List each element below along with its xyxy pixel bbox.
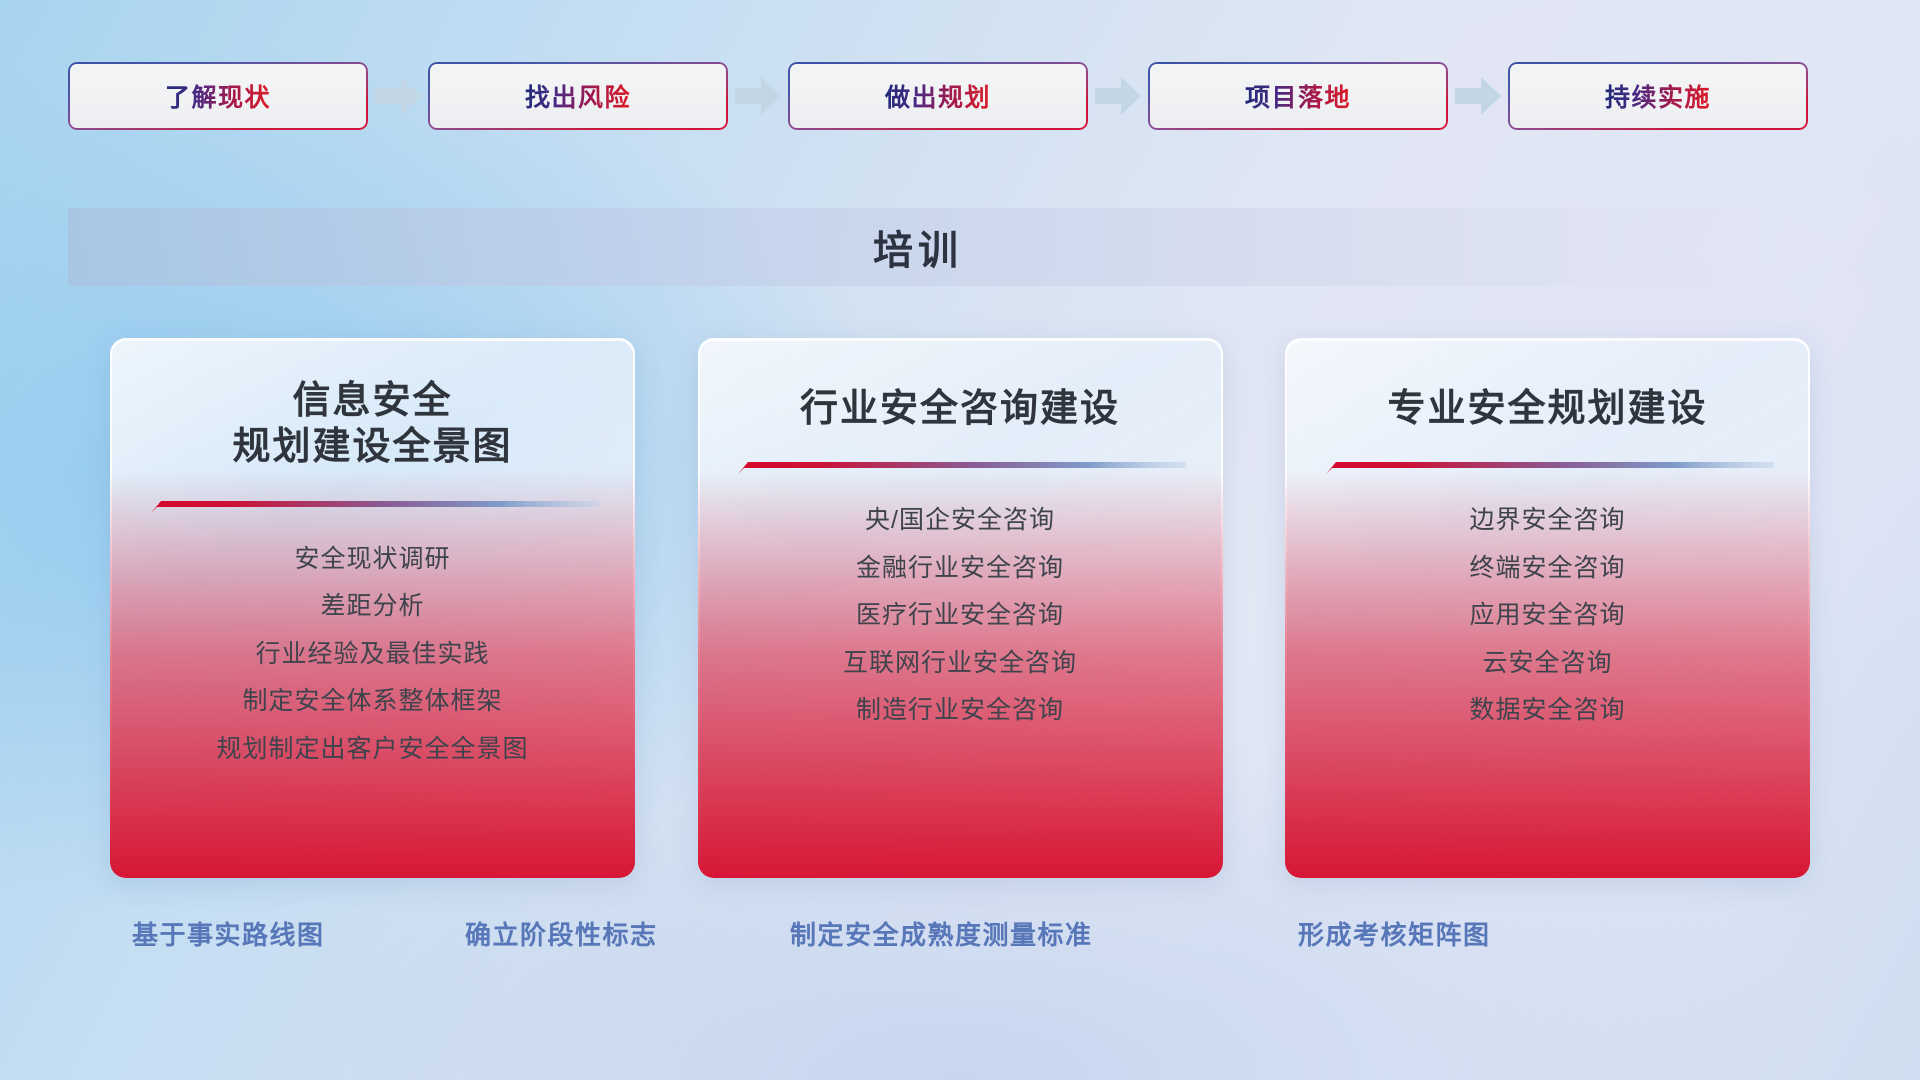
card-item-list: 央/国企安全咨询 金融行业安全咨询 医疗行业安全咨询 互联网行业安全咨询 制造行… xyxy=(700,500,1221,731)
card-title-line: 专业安全规划建设 xyxy=(1387,386,1707,432)
card-title: 信息安全 规划建设全景图 xyxy=(232,378,512,471)
card-item-list: 边界安全咨询 终端安全咨询 应用安全咨询 云安全咨询 数据安全咨询 xyxy=(1287,500,1808,731)
card-title-line: 行业安全咨询建设 xyxy=(800,386,1120,432)
card-info-security-blueprint[interactable]: 信息安全 规划建设全景图 xyxy=(110,338,635,878)
step-label-5: 持续实施 xyxy=(1605,78,1711,114)
list-item: 云安全咨询 xyxy=(1482,643,1612,684)
card-industry-security-consulting[interactable]: 行业安全咨询建设 央/国 xyxy=(698,338,1223,878)
list-item: 应用安全咨询 xyxy=(1469,595,1625,636)
slide-canvas: 了解现状 找出风险 做出规划 项目落地 持续实施 xyxy=(0,0,1920,1080)
cards-row: 信息安全 规划建设全景图 xyxy=(110,338,1810,878)
list-item: 制定安全体系整体框架 xyxy=(242,681,502,722)
bottom-label-4: 形成考核矩阵图 xyxy=(1298,915,1491,952)
step-label-2: 找出风险 xyxy=(525,78,631,114)
list-item: 边界安全咨询 xyxy=(1469,500,1625,541)
banner-title: 培训 xyxy=(68,208,1858,286)
card-item-list: 安全现状调研 差距分析 行业经验及最佳实践 制定安全体系整体框架 规划制定出客户… xyxy=(112,539,633,770)
step-box-2[interactable]: 找出风险 xyxy=(428,62,728,130)
step-label-3: 做出规划 xyxy=(885,78,991,114)
card-title-line: 信息安全 xyxy=(232,378,512,424)
bottom-labels-row: 基于事实路线图 确立阶段性标志 制定安全成熟度测量标准 形成考核矩阵图 xyxy=(0,915,1920,965)
list-item: 安全现状调研 xyxy=(294,539,450,580)
step-box-3[interactable]: 做出规划 xyxy=(788,62,1088,130)
process-steps: 了解现状 找出风险 做出规划 项目落地 持续实施 xyxy=(68,62,1858,130)
step-box-1[interactable]: 了解现状 xyxy=(68,62,368,130)
step-box-4[interactable]: 项目落地 xyxy=(1148,62,1448,130)
card-title: 专业安全规划建设 xyxy=(1387,386,1707,432)
training-banner: 培训 xyxy=(68,208,1858,286)
list-item: 医疗行业安全咨询 xyxy=(856,595,1064,636)
step-box-5[interactable]: 持续实施 xyxy=(1508,62,1808,130)
bottom-label-2: 确立阶段性标志 xyxy=(465,915,658,952)
list-item: 金融行业安全咨询 xyxy=(856,548,1064,589)
arrow-right-icon xyxy=(1094,76,1142,116)
list-item: 制造行业安全咨询 xyxy=(856,690,1064,731)
card-professional-security-planning[interactable]: 专业安全规划建设 边界安 xyxy=(1285,338,1810,878)
arrow-right-icon xyxy=(1454,76,1502,116)
card-divider xyxy=(1322,456,1774,478)
arrow-right-icon xyxy=(374,76,422,116)
card-divider xyxy=(734,456,1186,478)
list-item: 差距分析 xyxy=(320,586,424,627)
step-label-4: 项目落地 xyxy=(1245,78,1351,114)
list-item: 行业经验及最佳实践 xyxy=(255,634,489,675)
card-divider xyxy=(147,495,599,517)
step-label-1: 了解现状 xyxy=(165,78,271,114)
card-title-line: 规划建设全景图 xyxy=(232,424,512,470)
list-item: 央/国企安全咨询 xyxy=(865,500,1055,541)
arrow-right-icon xyxy=(734,76,782,116)
list-item: 互联网行业安全咨询 xyxy=(843,643,1077,684)
bottom-label-1: 基于事实路线图 xyxy=(132,915,325,952)
bottom-label-3: 制定安全成熟度测量标准 xyxy=(790,915,1093,952)
card-title: 行业安全咨询建设 xyxy=(800,386,1120,432)
list-item: 终端安全咨询 xyxy=(1469,548,1625,589)
list-item: 规划制定出客户安全全景图 xyxy=(216,729,528,770)
list-item: 数据安全咨询 xyxy=(1469,690,1625,731)
